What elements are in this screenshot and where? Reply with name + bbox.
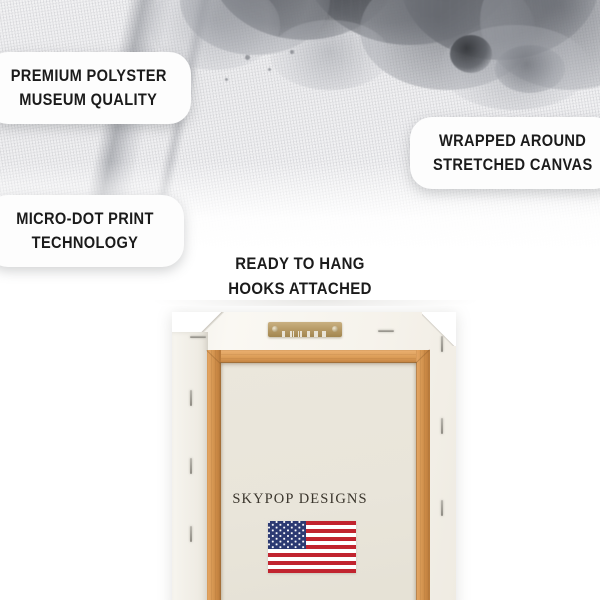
heading-line-1: READY TO HANG <box>36 252 564 277</box>
callout-line-2: MUSEUM QUALITY <box>19 88 157 112</box>
ready-to-hang-heading: READY TO HANG HOOKS ATTACHED <box>0 252 600 301</box>
callout-line-1: PREMIUM POLYSTER <box>10 64 166 88</box>
flag-union <box>268 521 306 549</box>
hanger-teeth <box>282 331 328 337</box>
flag-stars <box>268 521 306 549</box>
product-infographic: PREMIUM POLYSTER MUSEUM QUALITY WRAPPED … <box>0 0 600 600</box>
brand-name: SKYPOP DESIGNS <box>0 491 600 508</box>
heading-line-2: HOOKS ATTACHED <box>36 277 564 302</box>
callout-line-2: STRETCHED CANVAS <box>433 153 593 177</box>
callout-wrapped-around: WRAPPED AROUND STRETCHED CANVAS <box>410 117 600 189</box>
hanger-screw-right <box>332 326 338 332</box>
hanger-screw-left <box>272 326 278 332</box>
callout-premium-polyster: PREMIUM POLYSTER MUSEUM QUALITY <box>0 52 191 124</box>
callout-line-1: WRAPPED AROUND <box>439 129 586 153</box>
canvas-corner-bevel-topright <box>422 312 456 346</box>
stretcher-bar-right <box>416 350 430 600</box>
stretcher-bar-left <box>207 350 221 600</box>
us-flag-icon <box>268 521 356 573</box>
callout-line-1: MICRO-DOT PRINT <box>16 207 154 231</box>
sawtooth-hanger-icon <box>268 322 342 337</box>
